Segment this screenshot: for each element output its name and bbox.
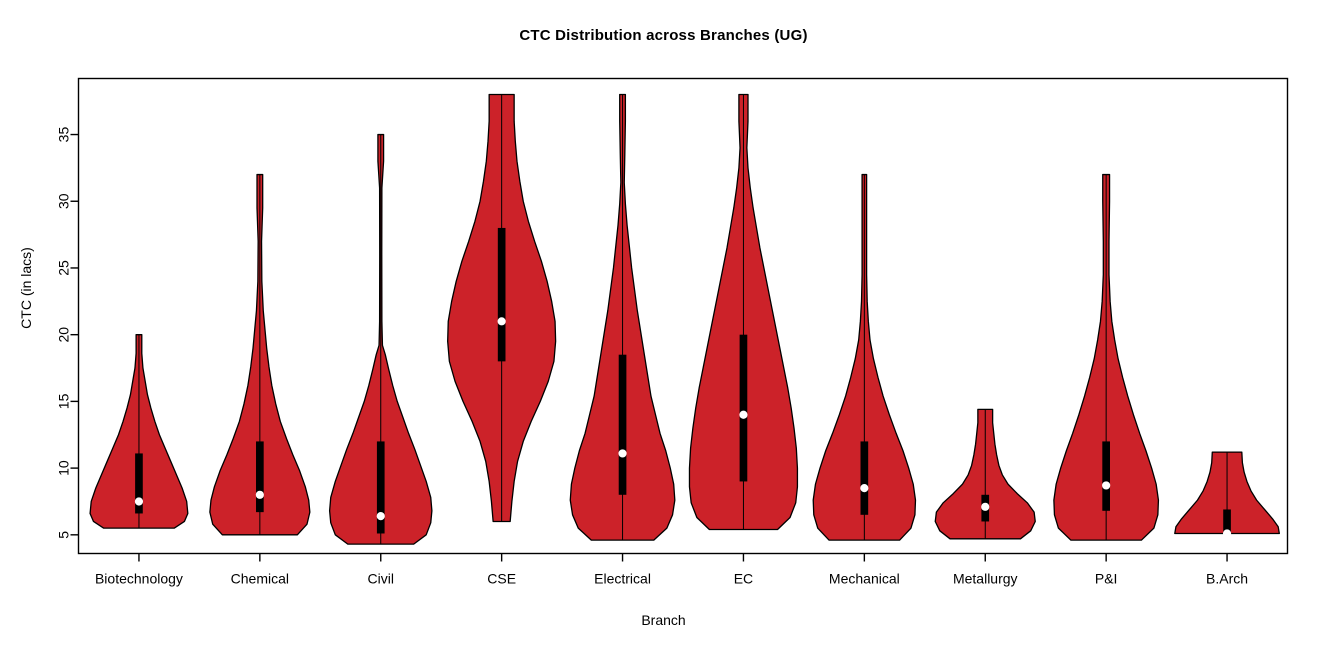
violin-electrical[interactable] xyxy=(570,95,675,541)
plot-canvas: 5101520253035 BiotechnologyChemicalCivil… xyxy=(0,0,1327,653)
violin-ec[interactable] xyxy=(689,95,797,530)
median-marker xyxy=(498,317,506,325)
violin-biotechnology[interactable] xyxy=(90,335,188,528)
x-tick-label-chemical: Chemical xyxy=(231,571,289,587)
iqr-box xyxy=(619,355,627,495)
median-marker xyxy=(256,491,264,499)
median-marker xyxy=(135,497,143,505)
y-tick-label: 15 xyxy=(56,393,72,409)
iqr-box xyxy=(256,441,264,512)
y-tick-label: 5 xyxy=(56,531,72,539)
median-marker xyxy=(1102,481,1110,489)
violin-cse[interactable] xyxy=(448,95,556,522)
median-marker xyxy=(377,512,385,520)
y-tick-label: 20 xyxy=(56,327,72,343)
x-tick-label-metallurgy: Metallurgy xyxy=(953,571,1018,587)
violin-p-i[interactable] xyxy=(1054,175,1159,541)
violin-plot-figure: CTC Distribution across Branches (UG) CT… xyxy=(0,0,1327,653)
x-tick-label-b-arch: B.Arch xyxy=(1206,571,1248,587)
y-tick-label: 35 xyxy=(56,127,72,143)
x-tick-label-biotechnology: Biotechnology xyxy=(95,571,183,587)
median-marker xyxy=(1223,529,1231,537)
median-marker xyxy=(981,503,989,511)
x-tick-label-cse: CSE xyxy=(487,571,516,587)
violins-layer xyxy=(90,95,1279,545)
median-marker xyxy=(860,484,868,492)
violin-metallurgy[interactable] xyxy=(935,409,1035,538)
x-tick-label-ec: EC xyxy=(734,571,753,587)
y-axis: 5101520253035 xyxy=(56,127,79,539)
y-tick-label: 30 xyxy=(56,193,72,209)
violin-b-arch[interactable] xyxy=(1175,452,1280,537)
violin-mechanical[interactable] xyxy=(813,175,915,541)
violin-chemical[interactable] xyxy=(210,175,310,535)
x-tick-label-electrical: Electrical xyxy=(594,571,651,587)
iqr-box xyxy=(498,228,506,361)
x-tick-label-mechanical: Mechanical xyxy=(829,571,900,587)
y-tick-label: 10 xyxy=(56,460,72,476)
median-marker xyxy=(618,449,626,457)
x-tick-label-p-i: P&I xyxy=(1095,571,1118,587)
x-tick-label-civil: Civil xyxy=(368,571,394,587)
x-axis: BiotechnologyChemicalCivilCSEElectricalE… xyxy=(95,554,1248,587)
iqr-box xyxy=(861,441,869,514)
median-marker xyxy=(739,411,747,419)
y-tick-label: 25 xyxy=(56,260,72,276)
violin-civil[interactable] xyxy=(330,135,432,545)
iqr-box xyxy=(740,335,748,482)
iqr-box xyxy=(1102,441,1110,510)
